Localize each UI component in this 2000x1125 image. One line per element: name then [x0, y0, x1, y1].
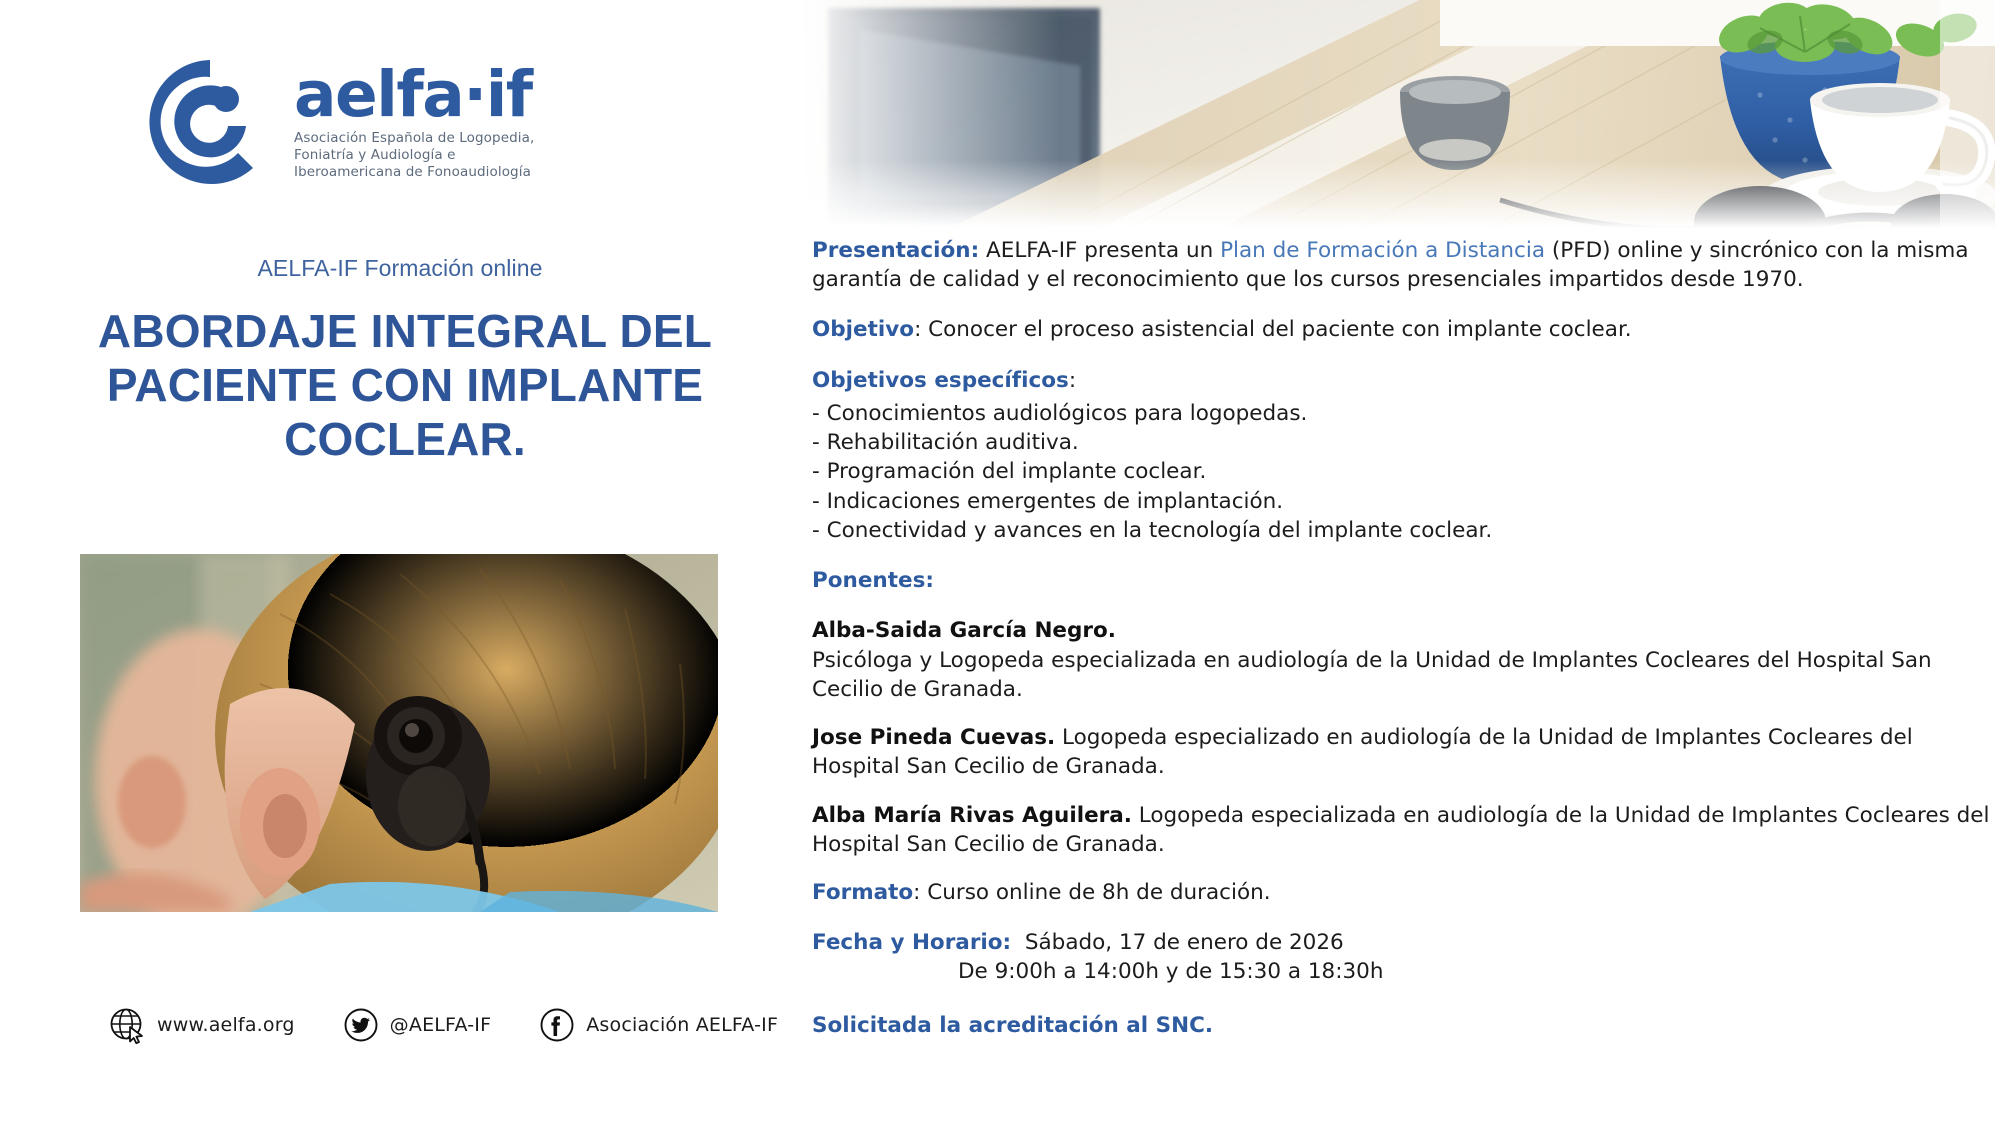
- objetivos-especificos-colon: :: [1069, 368, 1076, 393]
- fecha-block: Fecha y Horario: Sábado, 17 de enero de …: [812, 928, 1992, 986]
- logo-wordmark: aelfa·if: [294, 65, 534, 125]
- list-item: - Conectividad y avances en la tecnologí…: [812, 516, 1992, 545]
- contact-website-label: www.aelfa.org: [157, 1014, 295, 1036]
- globe-cursor-icon: [108, 1005, 148, 1045]
- contact-row: www.aelfa.org @AELFA-IF: [108, 1005, 748, 1045]
- speaker-entry: Jose Pineda Cuevas. Logopeda especializa…: [812, 723, 1992, 781]
- fecha-value: Sábado, 17 de enero de 2026: [1025, 930, 1344, 955]
- objetivo-paragraph: Objetivo: Conocer el proceso asistencial…: [812, 315, 1992, 344]
- acreditacion-note: Solicitada la acreditación al SNC.: [812, 1011, 1992, 1040]
- list-item: - Indicaciones emergentes de implantació…: [812, 487, 1992, 516]
- contact-facebook[interactable]: Asociación AELFA-IF: [537, 1005, 778, 1045]
- contact-website[interactable]: www.aelfa.org: [108, 1005, 295, 1045]
- speaker-name: Alba-Saida García Negro.: [812, 618, 1116, 643]
- contact-twitter[interactable]: @AELFA-IF: [341, 1005, 492, 1045]
- speaker-bio: Psicóloga y Logopeda especializada en au…: [812, 648, 1932, 702]
- horario-value: De 9:00h a 14:00h y de 15:30 a 18:30h: [958, 957, 1992, 986]
- objetivos-especificos-label: Objetivos específicos: [812, 368, 1069, 393]
- list-item: - Rehabilitación auditiva.: [812, 428, 1992, 457]
- course-details: Presentación: AELFA-IF presenta un Plan …: [812, 236, 1992, 1040]
- fecha-line: Fecha y Horario: Sábado, 17 de enero de …: [812, 928, 1992, 957]
- formato-paragraph: Formato: Curso online de 8h de duración.: [812, 878, 1992, 907]
- logo-subtitle-line-2: Foniatría y Audiología e: [294, 147, 534, 164]
- contact-twitter-label: @AELFA-IF: [390, 1014, 492, 1036]
- objetivos-especificos-heading: Objetivos específicos:: [812, 366, 1992, 395]
- speaker-name: Jose Pineda Cuevas.: [812, 725, 1055, 750]
- presentacion-paragraph: Presentación: AELFA-IF presenta un Plan …: [812, 236, 1992, 294]
- child-cochlear-implant-photo: [80, 554, 718, 912]
- contact-facebook-label: Asociación AELFA-IF: [586, 1014, 778, 1036]
- twitter-circle-icon: [341, 1005, 381, 1045]
- aelfa-spiral-icon: [140, 52, 280, 192]
- logo-subtitle-line-1: Asociación Española de Logopedia,: [294, 130, 534, 147]
- speaker-entry: Alba-Saida García Negro.Psicóloga y Logo…: [812, 616, 1992, 704]
- presentacion-label: Presentación:: [812, 238, 979, 263]
- page-title: ABORDAJE INTEGRAL DEL PACIENTE CON IMPLA…: [60, 305, 750, 466]
- speaker-entry: Alba María Rivas Aguilera. Logopeda espe…: [812, 801, 1992, 859]
- eyebrow-text: AELFA-IF Formación online: [0, 255, 800, 282]
- ponentes-label: Ponentes:: [812, 568, 934, 593]
- pfd-highlight: Plan de Formación a Distancia: [1220, 238, 1545, 263]
- list-item: - Conocimientos audiológicos para logope…: [812, 399, 1992, 428]
- logo-subtitle: Asociación Española de Logopedia, Foniat…: [294, 130, 534, 182]
- presentacion-text-before: AELFA-IF presenta un: [979, 238, 1220, 263]
- poster-root: aelfa·if Asociación Española de Logopedi…: [0, 0, 2000, 1125]
- objetivos-especificos-list: - Conocimientos audiológicos para logope…: [812, 399, 1992, 545]
- list-item: - Programación del implante coclear.: [812, 457, 1992, 486]
- aelfa-logo: aelfa·if Asociación Española de Logopedi…: [140, 42, 610, 202]
- logo-subtitle-line-3: Iberoamericana de Fonoaudiología: [294, 164, 534, 181]
- facebook-circle-icon: [537, 1005, 577, 1045]
- speaker-name: Alba María Rivas Aguilera.: [812, 803, 1132, 828]
- formato-text: : Curso online de 8h de duración.: [913, 880, 1270, 905]
- right-column: Presentación: AELFA-IF presenta un Plan …: [800, 0, 2000, 1125]
- objetivo-label: Objetivo: [812, 317, 914, 342]
- fecha-label: Fecha y Horario:: [812, 930, 1011, 955]
- logo-wordmark-block: aelfa·if Asociación Española de Logopedi…: [294, 63, 534, 182]
- formato-label: Formato: [812, 880, 913, 905]
- workspace-hero-photo: [800, 0, 1995, 228]
- ponentes-heading: Ponentes:: [812, 566, 1992, 595]
- left-column: aelfa·if Asociación Española de Logopedi…: [0, 0, 800, 1125]
- objetivo-text: : Conocer el proceso asistencial del pac…: [914, 317, 1632, 342]
